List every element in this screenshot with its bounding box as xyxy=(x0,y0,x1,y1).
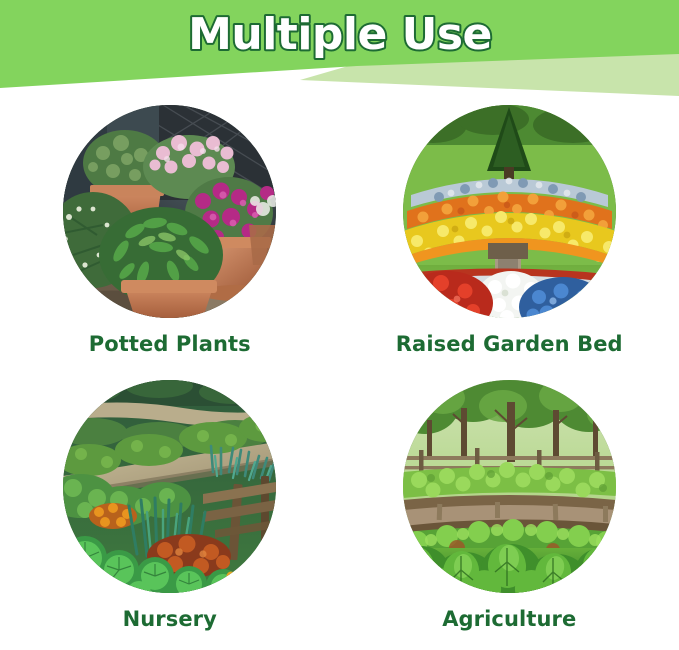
use-case-grid: Potted Plants xyxy=(0,100,679,650)
use-case-nursery: Nursery xyxy=(0,375,340,650)
agriculture-photo xyxy=(403,380,616,593)
use-case-label-agriculture: Agriculture xyxy=(442,609,576,630)
page-title-text: Multiple Use xyxy=(188,9,492,60)
raised-garden-bed-photo xyxy=(403,105,616,318)
use-case-agriculture: Agriculture xyxy=(340,375,679,650)
use-case-label-raised-garden-bed: Raised Garden Bed xyxy=(396,334,623,355)
use-case-label-nursery: Nursery xyxy=(123,609,217,630)
use-case-potted-plants: Potted Plants xyxy=(0,100,340,375)
use-case-raised-garden-bed: Raised Garden Bed xyxy=(340,100,679,375)
header-banner: Multiple Use xyxy=(0,0,679,100)
potted-plants-photo xyxy=(63,105,276,318)
nursery-image xyxy=(63,380,276,593)
potted-plants-image xyxy=(63,105,276,318)
page-title: Multiple Use xyxy=(0,0,679,70)
multiple-use-poster: Multiple Use xyxy=(0,0,679,650)
use-case-label-potted-plants: Potted Plants xyxy=(89,334,251,355)
raised-garden-bed-image xyxy=(403,105,616,318)
nursery-photo xyxy=(63,380,276,593)
agriculture-image xyxy=(403,380,616,593)
